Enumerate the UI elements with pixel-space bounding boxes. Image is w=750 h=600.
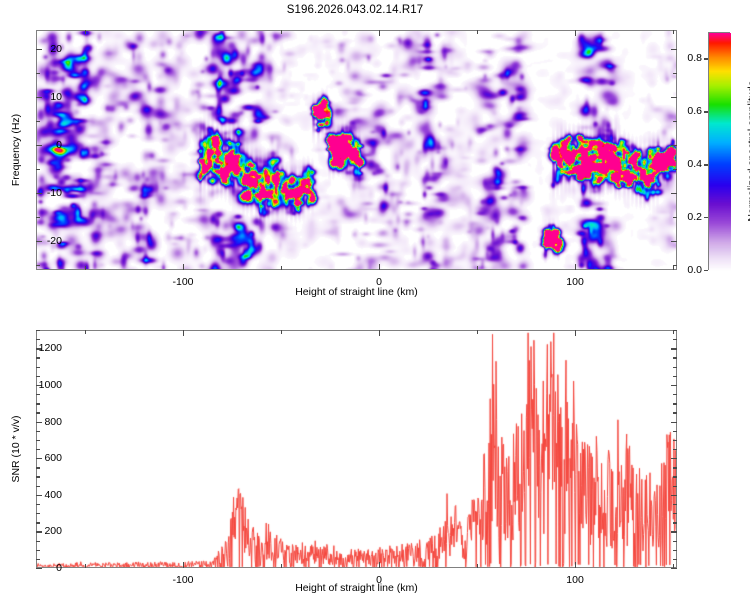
snr-canvas	[37, 331, 677, 568]
x-tick-label: 100	[566, 574, 584, 586]
y-tick-label: -10	[32, 187, 62, 199]
y-tick-minor-right	[673, 339, 677, 340]
x-tick-major	[575, 264, 576, 270]
y-tick-minor-right	[673, 541, 677, 542]
y-tick-minor-right	[673, 431, 677, 432]
x-tick-minor-top	[477, 30, 478, 34]
colorbar-gradient	[709, 33, 731, 271]
figure-title: S196.2026.043.02.14.R17	[0, 4, 710, 16]
y-tick-minor-right	[673, 121, 677, 122]
x-tick-major	[575, 562, 576, 568]
colorbar-title: Normalized spectral amplitude	[746, 80, 750, 221]
x-tick-major-top	[379, 30, 380, 36]
y-tick-minor-right	[673, 376, 677, 377]
x-tick-label: -100	[173, 574, 194, 586]
y-tick-minor-right	[673, 513, 677, 514]
y-tick-label: 0	[32, 562, 62, 574]
x-tick-major	[379, 264, 380, 270]
y-tick-minor-right	[673, 357, 677, 358]
y-tick-minor	[36, 550, 40, 551]
colorbar-tick	[704, 164, 708, 165]
snr-y-axis-title: SNR (10 * v/v)	[10, 415, 22, 482]
y-tick-major-right	[671, 531, 677, 532]
y-tick-minor	[36, 467, 40, 468]
y-tick-label: 600	[32, 452, 62, 464]
y-tick-minor-right	[673, 330, 677, 331]
y-tick-label: 400	[32, 489, 62, 501]
colorbar-tick-label: 0.2	[672, 211, 702, 223]
y-tick-label: 800	[32, 416, 62, 428]
x-tick-minor-top	[85, 30, 86, 34]
spectrogram-canvas	[37, 31, 677, 270]
y-tick-major-right	[671, 145, 677, 146]
y-tick-minor-right	[673, 504, 677, 505]
y-tick-minor	[36, 339, 40, 340]
y-tick-minor-right	[673, 440, 677, 441]
y-tick-label: 1000	[32, 379, 62, 391]
x-tick-minor-top	[477, 330, 478, 334]
colorbar-tick-label: 0.0	[672, 264, 702, 276]
y-tick-minor	[36, 449, 40, 450]
y-tick-minor	[36, 541, 40, 542]
x-tick-major-top	[183, 330, 184, 336]
x-tick-minor	[281, 266, 282, 270]
x-tick-minor-top	[85, 330, 86, 334]
y-tick-major-right	[671, 49, 677, 50]
y-tick-label: 1200	[32, 342, 62, 354]
x-tick-minor-top	[673, 30, 674, 34]
snr-plot	[36, 330, 677, 568]
colorbar	[708, 32, 730, 270]
y-tick-minor	[36, 412, 40, 413]
y-tick-label: 20	[32, 43, 62, 55]
y-tick-minor-right	[673, 522, 677, 523]
y-tick-minor	[36, 559, 40, 560]
colorbar-tick-label: 0.6	[672, 105, 702, 117]
y-tick-label: 200	[32, 525, 62, 537]
colorbar-tick	[704, 58, 708, 59]
spectrogram-plot	[36, 30, 677, 270]
y-tick-minor	[36, 486, 40, 487]
y-tick-major-right	[671, 241, 677, 242]
y-tick-minor	[36, 513, 40, 514]
y-tick-minor	[36, 476, 40, 477]
x-tick-major	[379, 562, 380, 568]
colorbar-tick-label: 0.4	[672, 158, 702, 170]
y-tick-major-right	[671, 458, 677, 459]
x-tick-minor-top	[281, 30, 282, 34]
spectrogram-y-axis-title: Frequency (Hz)	[10, 114, 22, 186]
y-tick-minor	[36, 357, 40, 358]
y-tick-major-right	[671, 495, 677, 496]
x-tick-minor-top	[281, 330, 282, 334]
y-tick-minor-right	[673, 559, 677, 560]
x-tick-major-top	[575, 30, 576, 36]
y-tick-major-right	[671, 385, 677, 386]
y-tick-major-right	[671, 568, 677, 569]
snr-x-axis-title: Height of straight line (km)	[295, 582, 418, 594]
y-tick-minor	[36, 504, 40, 505]
y-tick-minor	[36, 431, 40, 432]
x-tick-major-top	[183, 30, 184, 36]
y-tick-label: 0	[32, 139, 62, 151]
x-tick-label: -100	[173, 276, 194, 288]
y-tick-minor	[36, 217, 40, 218]
y-tick-minor-right	[673, 73, 677, 74]
x-tick-major	[183, 264, 184, 270]
colorbar-tick-label: 0.8	[672, 52, 702, 64]
y-tick-minor	[36, 265, 40, 266]
colorbar-tick	[704, 111, 708, 112]
x-tick-minor	[477, 266, 478, 270]
y-tick-label: 10	[32, 91, 62, 103]
y-tick-label: -20	[32, 235, 62, 247]
y-tick-major-right	[671, 193, 677, 194]
y-tick-major-right	[671, 422, 677, 423]
colorbar-tick	[704, 217, 708, 218]
x-tick-major	[183, 562, 184, 568]
y-tick-minor	[36, 121, 40, 122]
y-tick-minor	[36, 169, 40, 170]
x-tick-minor	[477, 564, 478, 568]
y-tick-minor-right	[673, 367, 677, 368]
x-tick-label: 100	[566, 276, 584, 288]
y-tick-minor	[36, 73, 40, 74]
y-tick-minor	[36, 376, 40, 377]
y-tick-minor-right	[673, 550, 677, 551]
y-tick-minor-right	[673, 403, 677, 404]
y-tick-minor-right	[673, 412, 677, 413]
x-tick-major-top	[575, 330, 576, 336]
y-tick-minor-right	[673, 476, 677, 477]
y-tick-major-right	[671, 348, 677, 349]
y-tick-minor-right	[673, 449, 677, 450]
figure-root: S196.2026.043.02.14.R17 -100010020100-10…	[0, 0, 750, 600]
x-tick-minor	[85, 266, 86, 270]
y-tick-minor	[36, 394, 40, 395]
y-tick-minor	[36, 440, 40, 441]
y-tick-minor	[36, 522, 40, 523]
x-tick-minor	[85, 564, 86, 568]
y-tick-minor	[36, 367, 40, 368]
y-tick-minor	[36, 403, 40, 404]
y-tick-minor-right	[673, 467, 677, 468]
x-tick-major-top	[379, 330, 380, 336]
y-tick-major-right	[671, 97, 677, 98]
y-tick-minor	[36, 330, 40, 331]
colorbar-tick	[704, 270, 708, 271]
y-tick-minor-right	[673, 486, 677, 487]
spectrogram-x-axis-title: Height of straight line (km)	[295, 286, 418, 298]
y-tick-minor-right	[673, 394, 677, 395]
x-tick-minor	[281, 564, 282, 568]
